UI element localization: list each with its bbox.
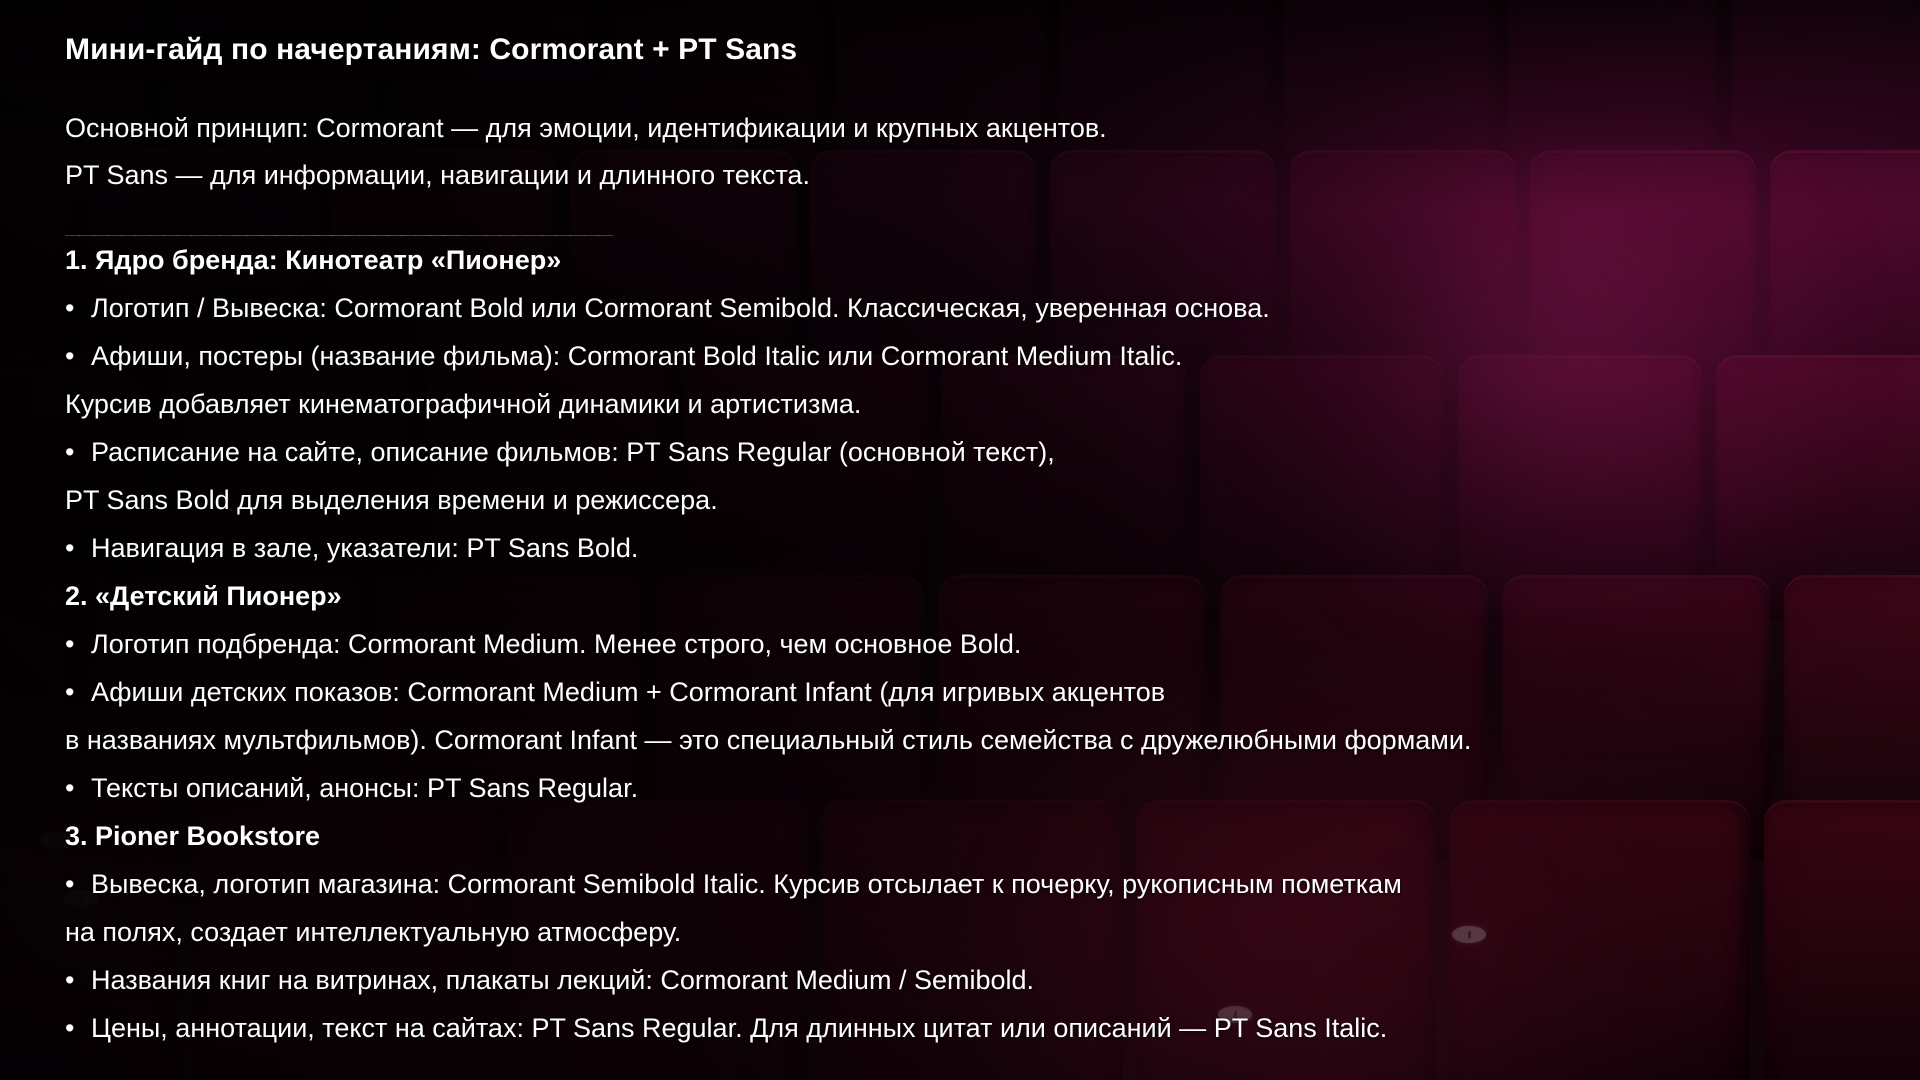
bullet-item: •Тексты описаний, анонсы: PT Sans Regula… bbox=[65, 764, 1875, 812]
intro-line-1: Основной принцип: Cormorant — для эмоции… bbox=[65, 105, 1875, 152]
bullet-dot-icon: • bbox=[65, 524, 91, 572]
horizontal-divider: _______________________________________ bbox=[65, 210, 1875, 236]
bullet-item: •Афиши детских показов: Cormorant Medium… bbox=[65, 668, 1875, 716]
section: 1. Ядро бренда: Кинотеатр «Пионер»•Логот… bbox=[65, 236, 1875, 572]
bullet-dot-icon: • bbox=[65, 764, 91, 812]
bullet-text: Вывеска, логотип магазина: Cormorant Sem… bbox=[91, 869, 1402, 899]
bullet-dot-icon: • bbox=[65, 620, 91, 668]
bullet-dot-icon: • bbox=[65, 860, 91, 908]
continuation-line: на полях, создает интеллектуальную атмос… bbox=[65, 908, 1875, 956]
section: 2. «Детский Пионер»•Логотип подбренда: C… bbox=[65, 572, 1875, 812]
bullet-dot-icon: • bbox=[65, 956, 91, 1004]
bullet-dot-icon: • bbox=[65, 284, 91, 332]
bullet-item: •Навигация в зале, указатели: PT Sans Bo… bbox=[65, 524, 1875, 572]
continuation-line: Курсив добавляет кинематографичной динам… bbox=[65, 380, 1875, 428]
slide-canvas: Мини-гайд по начертаниям: Cormorant + PT… bbox=[0, 0, 1920, 1080]
bullet-item: •Вывеска, логотип магазина: Cormorant Se… bbox=[65, 860, 1875, 908]
bullet-item: •Логотип подбренда: Cormorant Medium. Ме… bbox=[65, 620, 1875, 668]
bullet-item: •Афиши, постеры (название фильма): Cormo… bbox=[65, 332, 1875, 380]
continuation-line: PT Sans Bold для выделения времени и реж… bbox=[65, 476, 1875, 524]
bullet-dot-icon: • bbox=[65, 668, 91, 716]
bullet-item: •Цены, аннотации, текст на сайтах: PT Sa… bbox=[65, 1004, 1875, 1052]
intro-line-2: PT Sans — для информации, навигации и дл… bbox=[65, 152, 1875, 199]
bullet-item: •Логотип / Вывеска: Cormorant Bold или C… bbox=[65, 284, 1875, 332]
bullet-text: Тексты описаний, анонсы: PT Sans Regular… bbox=[91, 773, 638, 803]
bullet-text: Навигация в зале, указатели: PT Sans Bol… bbox=[91, 533, 638, 563]
bullet-item: •Расписание на сайте, описание фильмов: … bbox=[65, 428, 1875, 476]
sections-list: 1. Ядро бренда: Кинотеатр «Пионер»•Логот… bbox=[65, 236, 1875, 1052]
continuation-line: в названиях мультфильмов). Cormorant Inf… bbox=[65, 716, 1875, 764]
bullet-dot-icon: • bbox=[65, 428, 91, 476]
slide-content: Мини-гайд по начертаниям: Cormorant + PT… bbox=[65, 32, 1875, 1052]
bullet-text: Цены, аннотации, текст на сайтах: PT San… bbox=[91, 1013, 1387, 1043]
page-title: Мини-гайд по начертаниям: Cormorant + PT… bbox=[65, 32, 1875, 68]
bullet-text: Афиши, постеры (название фильма): Cormor… bbox=[91, 341, 1182, 371]
bullet-text: Названия книг на витринах, плакаты лекци… bbox=[91, 965, 1034, 995]
bullet-text: Логотип подбренда: Cormorant Medium. Мен… bbox=[91, 629, 1021, 659]
section-heading: 1. Ядро бренда: Кинотеатр «Пионер» bbox=[65, 236, 1875, 284]
bullet-text: Расписание на сайте, описание фильмов: P… bbox=[91, 437, 1055, 467]
bullet-dot-icon: • bbox=[65, 1004, 91, 1052]
section: 3. Pioner Bookstore•Вывеска, логотип маг… bbox=[65, 812, 1875, 1052]
bullet-text: Афиши детских показов: Cormorant Medium … bbox=[91, 677, 1165, 707]
bullet-dot-icon: • bbox=[65, 332, 91, 380]
section-heading: 3. Pioner Bookstore bbox=[65, 812, 1875, 860]
section-heading: 2. «Детский Пионер» bbox=[65, 572, 1875, 620]
intro-paragraph: Основной принцип: Cormorant — для эмоции… bbox=[65, 105, 1875, 199]
bullet-text: Логотип / Вывеска: Cormorant Bold или Co… bbox=[91, 293, 1270, 323]
bullet-item: •Названия книг на витринах, плакаты лекц… bbox=[65, 956, 1875, 1004]
